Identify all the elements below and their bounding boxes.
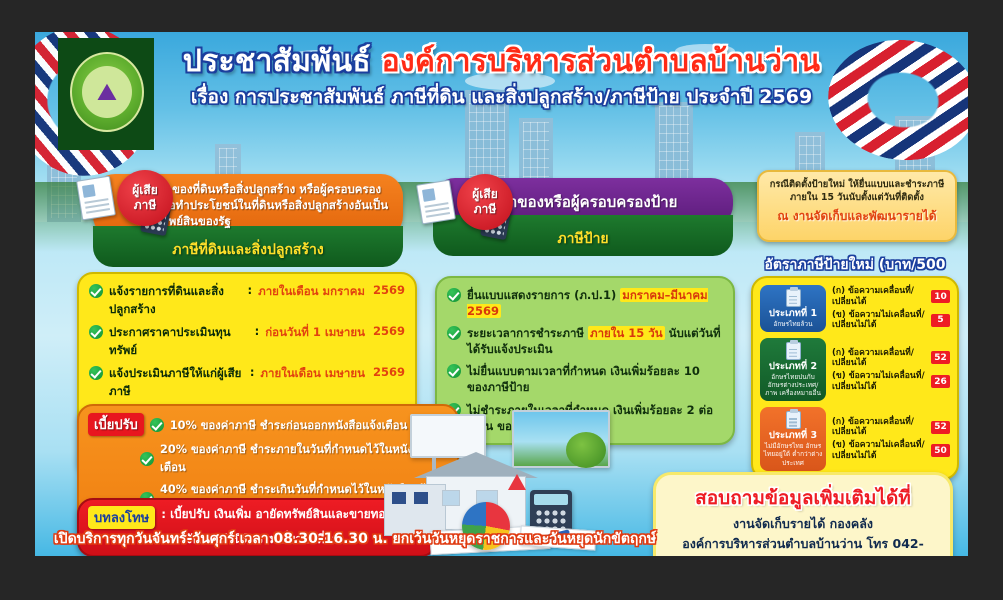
window: [392, 492, 406, 504]
contact-heading: สอบถามข้อมูลเพิ่มเติมได้ที่: [666, 483, 940, 513]
rate-row: (ข) ข้อความไม่เคลื่อนที่/เปลี่ยนไม่ได้ 2…: [832, 371, 950, 392]
rate-label: (ข) ข้อความไม่เคลื่อนที่/เปลี่ยนไม่ได้: [832, 310, 927, 331]
schedule-row: ประกาศราคาประเมินทุนทรัพย์ : ก่อนวันที่ …: [89, 324, 405, 360]
badge-line-1: ผู้เสีย: [472, 187, 498, 202]
penalty-text: 10% ของค่าภาษี ชำระก่อนออกหนังสือแจ้งเตื…: [170, 416, 407, 434]
rate-type-row: ประเภทที่ 1 อักษรไทยล้วน (ก) ข้อความเคลื…: [760, 285, 950, 332]
rate-type-sub: อักษรไทยล้วน: [773, 320, 812, 328]
sign-rule-text: ไม่ยื่นแบบตามเวลาที่กำหนด เงินเพิ่มร้อยล…: [467, 363, 723, 395]
contact-line: งานจัดเก็บรายได้ กองคลัง: [666, 516, 940, 533]
schedule-period: ก่อนวันที่ 1 เมษายน: [265, 324, 365, 342]
rate-type-sub: อักษรไทยปนกับ อักษรต่างประเทศ/ภาพ เครื่อ…: [763, 373, 823, 397]
check-icon: [89, 366, 103, 380]
organization-logo: ⛰: [58, 38, 154, 150]
desc-line: เจ้าของหรือผู้ครอบครองป้าย: [495, 192, 723, 213]
separator: :: [248, 283, 253, 297]
schedule-period: ภายในเดือน มกราคม: [258, 283, 365, 301]
taxpayer-badge: ผู้เสีย ภาษี: [117, 170, 173, 226]
rate-label: (ก) ข้อความเคลื่อนที่/เปลี่ยนได้: [832, 417, 927, 438]
sanction-row: บทลงโทษ : เบี้ยปรับ เงินเพิ่ม อายัดทรัพย…: [88, 506, 426, 529]
rate-type-badge: ประเภทที่ 1 อักษรไทยล้วน: [760, 285, 826, 332]
check-icon: [150, 418, 164, 432]
sign-rate-table-panel: ประเภทที่ 1 อักษรไทยล้วน (ก) ข้อความเคลื…: [751, 276, 959, 480]
clipboard-check-icon: [786, 289, 801, 307]
rate-value: 26: [931, 375, 950, 388]
sign-rule-text: ระยะเวลาการชำระภาษี ภายใน 15 วัน นับแต่ว…: [467, 325, 723, 357]
rate-label: (ข) ข้อความไม่เคลื่อนที่/เปลี่ยนไม่ได้: [832, 440, 927, 461]
desc-line: เจ้าของที่ดินหรือสิ่งปลูกสร้าง หรือผู้คร…: [155, 182, 393, 198]
rate-value: 52: [931, 351, 950, 364]
contact-line: องค์การบริหารส่วนตำบลบ้านว่าน โทร 042-01…: [666, 536, 940, 556]
desc-line: หรือทำประโยชน์ในที่ดินหรือสิ่งปลูกสร้างอ…: [155, 198, 393, 214]
page-subtitle: เรื่อง การประชาสัมพันธ์ ภาษีที่ดิน และสิ…: [155, 82, 848, 112]
schedule-period: ภายในเดือน เมษายน: [260, 365, 365, 383]
mountain-icon: ⛰: [97, 80, 117, 104]
page-title: ประชาสัมพันธ์ องค์การบริหารส่วนตำบลบ้านว…: [155, 46, 848, 78]
logo-inner-disc: ⛰: [82, 66, 132, 118]
office-hours: เปิดบริการทุกวันจันทร์-วันศุกร์ เวลา 08.…: [45, 528, 665, 550]
separator: :: [250, 365, 255, 379]
check-icon: [140, 452, 154, 466]
sign-rule-row: ระยะเวลาการชำระภาษี ภายใน 15 วัน นับแต่ว…: [447, 325, 723, 357]
rate-row: (ก) ข้อความเคลื่อนที่/เปลี่ยนได้ 52: [832, 417, 950, 438]
check-icon: [447, 326, 461, 340]
notice-line: ภายใน 15 วันนับตั้งแต่วันที่ติดตั้ง: [767, 191, 947, 204]
document-icon: [416, 180, 456, 225]
check-icon: [89, 284, 103, 298]
taxpayer-banner-sign: ผู้เสีย ภาษี เจ้าของหรือผู้ครอบครองป้าย …: [433, 178, 733, 256]
logo-seal: ⛰: [70, 52, 144, 132]
rate-row: (ก) ข้อความเคลื่อนที่/เปลี่ยนได้ 52: [832, 348, 950, 369]
new-sign-notice: กรณีติดตั้งป้ายใหม่ ให้ยื่นแบบและชำระภาษ…: [757, 170, 957, 242]
rate-value-list: (ก) ข้อความเคลื่อนที่/เปลี่ยนได้ 52 (ข) …: [832, 407, 950, 470]
clipboard-check-icon: [786, 411, 801, 429]
rate-type-title: ประเภทที่ 2: [769, 362, 817, 373]
rule-pre: ยื่นแบบแสดงรายการ (ภ.ป.1): [467, 288, 620, 302]
poster-canvas: ⛰ ประชาสัมพันธ์ องค์การบริหารส่วนตำบลบ้า…: [35, 32, 968, 556]
rate-row: (ก) ข้อความเคลื่อนที่/เปลี่ยนได้ 10: [832, 286, 950, 307]
rate-value-list: (ก) ข้อความเคลื่อนที่/เปลี่ยนได้ 10 (ข) …: [832, 285, 950, 332]
sign-rule-text: ยื่นแบบแสดงรายการ (ภ.ป.1) มกราคม–มีนาคม …: [467, 287, 723, 319]
schedule-label: ประกาศราคาประเมินทุนทรัพย์: [109, 324, 249, 360]
rate-label: (ก) ข้อความเคลื่อนที่/เปลี่ยนได้: [832, 286, 927, 307]
rate-type-row: ประเภทที่ 3 ไม่มีอักษรไทย อักษรไทยอยู่ใต…: [760, 407, 950, 470]
document-icon: [76, 176, 116, 221]
contact-box: สอบถามข้อมูลเพิ่มเติมได้ที่ งานจัดเก็บรา…: [653, 472, 953, 556]
rate-type-sub: ไม่มีอักษรไทย อักษรไทยอยู่ใต้ ต่ำกว่าต่า…: [763, 442, 823, 466]
rule-highlight: ภายใน 15 วัน: [588, 326, 665, 340]
rate-type-badge: ประเภทที่ 3 ไม่มีอักษรไทย อักษรไทยอยู่ใต…: [760, 407, 826, 470]
rate-type-badge: ประเภทที่ 2 อักษรไทยปนกับ อักษรต่างประเท…: [760, 338, 826, 401]
sign-rule-row: ยื่นแบบแสดงรายการ (ภ.ป.1) มกราคม–มีนาคม …: [447, 287, 723, 319]
rate-label: (ข) ข้อความไม่เคลื่อนที่/เปลี่ยนไม่ได้: [832, 371, 927, 392]
rate-row: (ข) ข้อความไม่เคลื่อนที่/เปลี่ยนไม่ได้ 5…: [832, 440, 950, 461]
header: ประชาสัมพันธ์ องค์การบริหารส่วนตำบลบ้านว…: [155, 46, 848, 112]
title-part-white: ประชาสัมพันธ์: [183, 44, 382, 79]
check-icon: [447, 364, 461, 378]
check-icon: [89, 325, 103, 339]
title-part-red: องค์การบริหารส่วนตำบลบ้านว่าน: [382, 44, 821, 79]
schedule-year: 2569: [371, 365, 405, 379]
check-icon: [447, 288, 461, 302]
window: [414, 492, 428, 504]
rate-type-row: ประเภทที่ 2 อักษรไทยปนกับ อักษรต่างประเท…: [760, 338, 950, 401]
clipboard-check-icon: [786, 342, 801, 360]
tree-illustration: [566, 432, 606, 468]
growth-arrow-icon: [508, 474, 526, 490]
schedule-label: แจ้งประเมินภาษีให้แก่ผู้เสียภาษี: [109, 365, 244, 401]
schedule-label: แจ้งรายการที่ดินและสิ่งปลูกสร้าง: [109, 283, 242, 319]
notice-highlight: ณ งานจัดเก็บและพัฒนารายได้: [767, 207, 947, 226]
fine-tag: เบี้ยปรับ: [88, 413, 144, 436]
notice-line: กรณีติดตั้งป้ายใหม่ ให้ยื่นแบบและชำระภาษ…: [767, 178, 947, 191]
rate-value: 10: [931, 290, 950, 303]
taxpayer-badge: ผู้เสีย ภาษี: [457, 174, 513, 230]
badge-line-1: ผู้เสีย: [132, 183, 158, 198]
rate-type-title: ประเภทที่ 3: [769, 431, 817, 442]
badge-line-2: ภาษี: [474, 202, 497, 217]
sign-rule-row: ไม่ยื่นแบบตามเวลาที่กำหนด เงินเพิ่มร้อยล…: [447, 363, 723, 395]
tax-category-label: ภาษีที่ดินและสิ่งปลูกสร้าง: [93, 226, 403, 267]
rate-value-list: (ก) ข้อความเคลื่อนที่/เปลี่ยนได้ 52 (ข) …: [832, 338, 950, 401]
rate-type-title: ประเภทที่ 1: [769, 309, 817, 320]
window: [442, 490, 460, 506]
rule-pre: ระยะเวลาการชำระภาษี: [467, 326, 588, 340]
schedule-row: แจ้งรายการที่ดินและสิ่งปลูกสร้าง : ภายใน…: [89, 283, 405, 319]
schedule-year: 2569: [371, 324, 405, 338]
rate-row: (ข) ข้อความไม่เคลื่อนที่/เปลี่ยนไม่ได้ 5: [832, 310, 950, 331]
taxpayer-banner-land: ผู้เสีย ภาษี เจ้าของที่ดินหรือสิ่งปลูกสร…: [93, 174, 403, 267]
rate-label: (ก) ข้อความเคลื่อนที่/เปลี่ยนได้: [832, 348, 927, 369]
separator: :: [255, 324, 260, 338]
schedule-year: 2569: [371, 283, 405, 297]
schedule-row: แจ้งประเมินภาษีให้แก่ผู้เสียภาษี : ภายใน…: [89, 365, 405, 401]
sanction-tag: บทลงโทษ: [88, 506, 155, 529]
rate-value: 50: [931, 444, 950, 457]
rate-value: 5: [931, 314, 950, 327]
rate-value: 52: [931, 421, 950, 434]
badge-line-2: ภาษี: [134, 198, 157, 213]
